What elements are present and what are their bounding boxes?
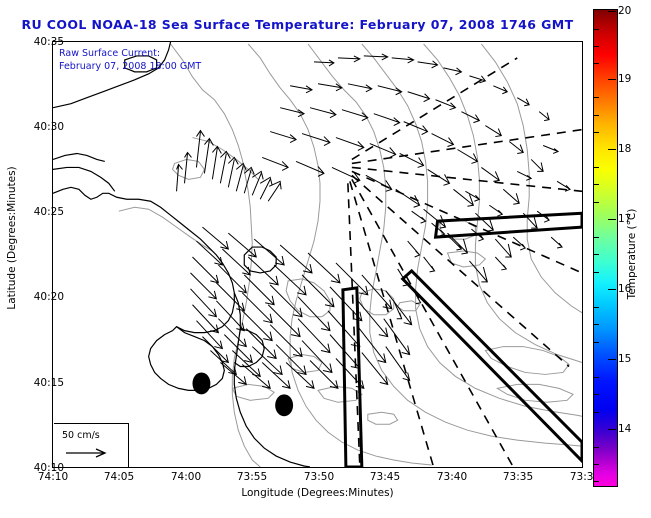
x-tick-label: 74:00: [171, 471, 201, 483]
sst-map-figure: RU COOL NOAA-18 Sea Surface Temperature:…: [0, 0, 651, 518]
colorbar-minor-tick: [593, 481, 599, 482]
colorbar-tick-label: 19: [618, 73, 631, 85]
colorbar-minor-tick: [593, 46, 599, 47]
x-tick-label: 74:10: [38, 471, 68, 483]
colorbar-minor-tick: [593, 184, 599, 185]
y-tick-label: 40:25: [34, 206, 64, 218]
colorbar-minor-tick: [593, 377, 599, 378]
colorbar-minor-tick: [593, 63, 599, 64]
colorbar[interactable]: [593, 9, 618, 487]
x-tick-label: 74:05: [104, 471, 134, 483]
x-tick-label: 73:50: [304, 471, 334, 483]
colorbar-tick-mark: [608, 79, 616, 80]
colorbar-tick-mark: [608, 289, 616, 290]
y-tick-label: 40:20: [34, 291, 64, 303]
y-tick-label: 40:35: [34, 36, 64, 48]
annotation-block: Raw Surface Current: February 07, 2008 1…: [59, 47, 201, 73]
colorbar-minor-tick: [593, 307, 599, 308]
colorbar-minor-tick: [593, 97, 599, 98]
shipping-lane-north: [436, 213, 582, 237]
colorbar-minor-tick: [593, 29, 599, 30]
annotation-line-1: Raw Surface Current:: [59, 47, 201, 60]
annotation-line-2: February 07, 2008 18:00 GMT: [59, 60, 201, 73]
colorbar-minor-tick: [593, 447, 599, 448]
y-tick-label: 40:30: [34, 121, 64, 133]
vector-scale-legend: 50 cm/s: [54, 423, 129, 467]
x-tick-label: 73:45: [370, 471, 400, 483]
colorbar-title: Temperature (°C): [626, 154, 638, 354]
y-axis-title: Latitude (Degrees:Minutes): [6, 138, 18, 338]
figure-title: RU COOL NOAA-18 Sea Surface Temperature:…: [0, 17, 595, 32]
colorbar-tick-mark: [608, 149, 616, 150]
station-marker-east: [275, 394, 293, 416]
colorbar-minor-tick: [593, 167, 599, 168]
right-arrow-icon: [64, 446, 112, 460]
colorbar-minor-tick: [593, 237, 599, 238]
colorbar-tick-mark: [608, 219, 616, 220]
y-tick-label: 40:15: [34, 377, 64, 389]
colorbar-minor-tick: [593, 412, 599, 413]
colorbar-tick-label: 20: [618, 5, 631, 17]
colorbar-minor-tick: [593, 272, 599, 273]
colorbar-tick-mark: [608, 11, 616, 12]
colorbar-minor-tick: [593, 394, 599, 395]
x-tick-label: 73:40: [437, 471, 467, 483]
map-plot-area[interactable]: Raw Surface Current: February 07, 2008 1…: [52, 41, 583, 468]
colorbar-tick-mark: [608, 429, 616, 430]
map-graphics: [53, 42, 582, 467]
surface-current-vectors: [177, 54, 571, 388]
colorbar-tick-mark: [608, 359, 616, 360]
x-axis-title: Longitude (Degrees:Minutes): [52, 487, 583, 499]
vector-scale-label: 50 cm/s: [62, 430, 100, 441]
colorbar-minor-tick: [593, 324, 599, 325]
shipping-lane-diagonal: [403, 271, 582, 461]
station-marker-west: [192, 372, 210, 394]
colorbar-minor-tick: [593, 132, 599, 133]
x-tick-label: 73:55: [237, 471, 267, 483]
colorbar-tick-label: 14: [618, 423, 631, 435]
colorbar-minor-tick: [593, 254, 599, 255]
colorbar-tick-label: 15: [618, 353, 631, 365]
colorbar-minor-tick: [593, 202, 599, 203]
colorbar-minor-tick: [593, 464, 599, 465]
station-markers: [192, 372, 293, 416]
x-tick-label: 73:35: [503, 471, 533, 483]
colorbar-minor-tick: [593, 115, 599, 116]
colorbar-minor-tick: [593, 342, 599, 343]
